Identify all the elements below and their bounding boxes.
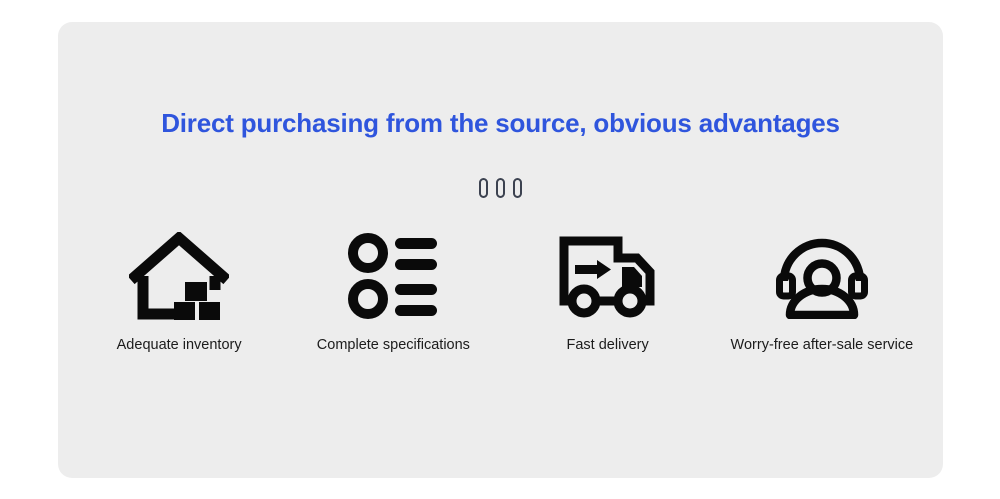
page-root: Direct purchasing from the source, obvio… — [0, 0, 1000, 499]
specification-list-icon — [347, 230, 439, 322]
divider-pip-3 — [513, 178, 522, 198]
feature-item-inventory: Adequate inventory — [72, 230, 286, 353]
feature-item-specifications: Complete specifications — [286, 230, 500, 353]
feature-label-delivery: Fast delivery — [567, 337, 649, 353]
feature-label-specifications: Complete specifications — [317, 337, 470, 353]
feature-item-delivery: Fast delivery — [501, 230, 715, 353]
warehouse-inventory-icon — [129, 230, 229, 322]
page-title: Direct purchasing from the source, obvio… — [58, 108, 943, 139]
customer-service-headset-icon — [774, 230, 870, 322]
delivery-truck-icon — [558, 230, 658, 322]
divider-pip-2 — [496, 178, 505, 198]
feature-item-service: Worry-free after-sale service — [715, 230, 929, 353]
feature-label-service: Worry-free after-sale service — [731, 337, 914, 353]
divider-pip-1 — [479, 178, 488, 198]
feature-list: Adequate inventory Complete specificatio… — [72, 230, 929, 353]
feature-label-inventory: Adequate inventory — [117, 337, 242, 353]
advantages-panel: Direct purchasing from the source, obvio… — [58, 22, 943, 478]
three-pill-divider — [58, 178, 943, 198]
